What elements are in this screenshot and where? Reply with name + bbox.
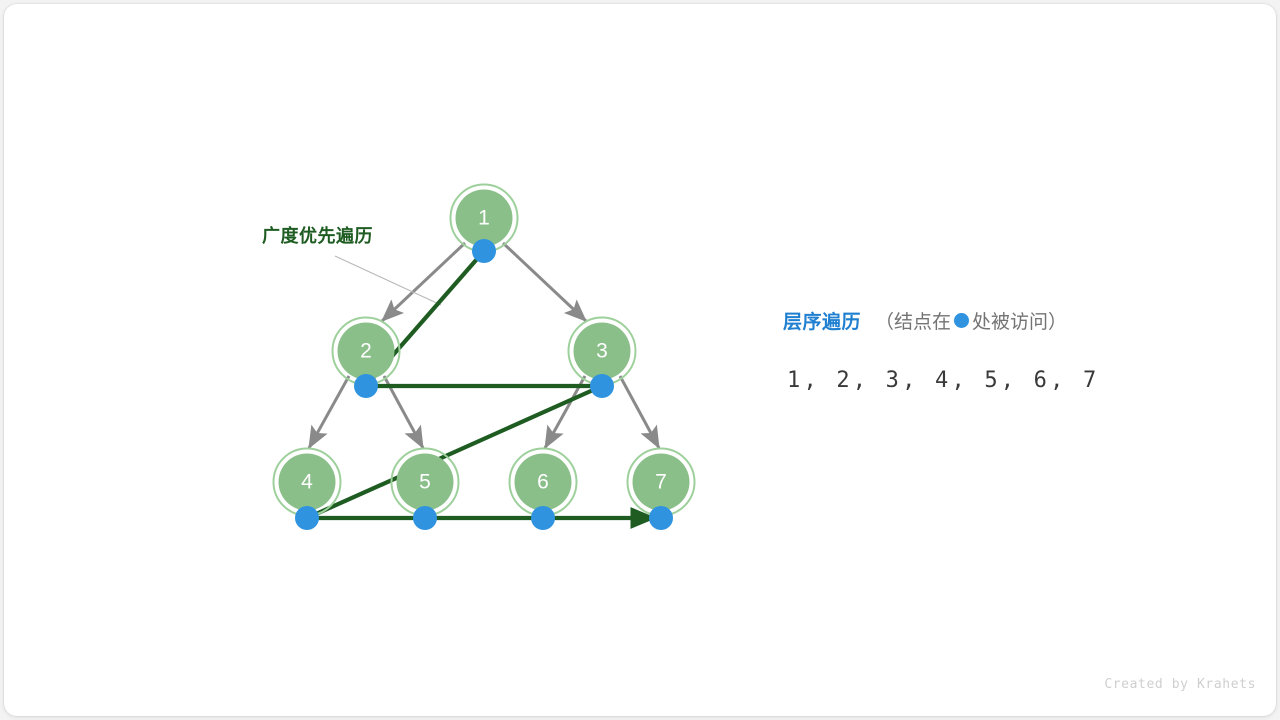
- screenshot-stage: 1 2 3 4: [0, 0, 1280, 720]
- legend-note: （结点在 处被访问）: [875, 307, 1067, 334]
- tree-edge-1-3: [503, 243, 586, 321]
- tree-edge-3-7: [620, 376, 659, 448]
- node-body: [338, 323, 395, 380]
- visit-dot-icon: [413, 506, 437, 530]
- bfs-caption-label: 广度优先遍历: [262, 222, 373, 248]
- slide-card: 1 2 3 4: [4, 4, 1276, 716]
- visit-dot-icon: [472, 239, 496, 263]
- credit-text: Created by Krahets: [1104, 677, 1256, 692]
- traversal-sequence: 1, 2, 3, 4, 5, 6, 7: [787, 368, 1099, 393]
- node-body: [456, 190, 513, 247]
- node-body: [515, 454, 572, 511]
- legend-note-suffix: 处被访问）: [972, 307, 1067, 334]
- visit-dot-icon: [354, 374, 378, 398]
- visit-dot-icon: [295, 506, 319, 530]
- node-body: [279, 454, 336, 511]
- visit-dot-icon: [649, 506, 673, 530]
- bfs-tree-diagram: 1 2 3 4: [4, 4, 1276, 716]
- node-body: [397, 454, 454, 511]
- visit-dot-icon: [954, 313, 969, 328]
- node-body: [633, 454, 690, 511]
- visit-dot-icon: [590, 374, 614, 398]
- tree-node-1[interactable]: 1: [451, 185, 518, 264]
- tree-edge-2-4: [309, 376, 349, 448]
- legend-note-prefix: （结点在: [875, 307, 951, 334]
- legend-title: 层序遍历: [783, 307, 861, 334]
- visit-dot-icon: [531, 506, 555, 530]
- legend: 层序遍历 （结点在 处被访问）: [783, 307, 1067, 334]
- node-body: [574, 323, 631, 380]
- tree-edge-1-2: [382, 243, 465, 321]
